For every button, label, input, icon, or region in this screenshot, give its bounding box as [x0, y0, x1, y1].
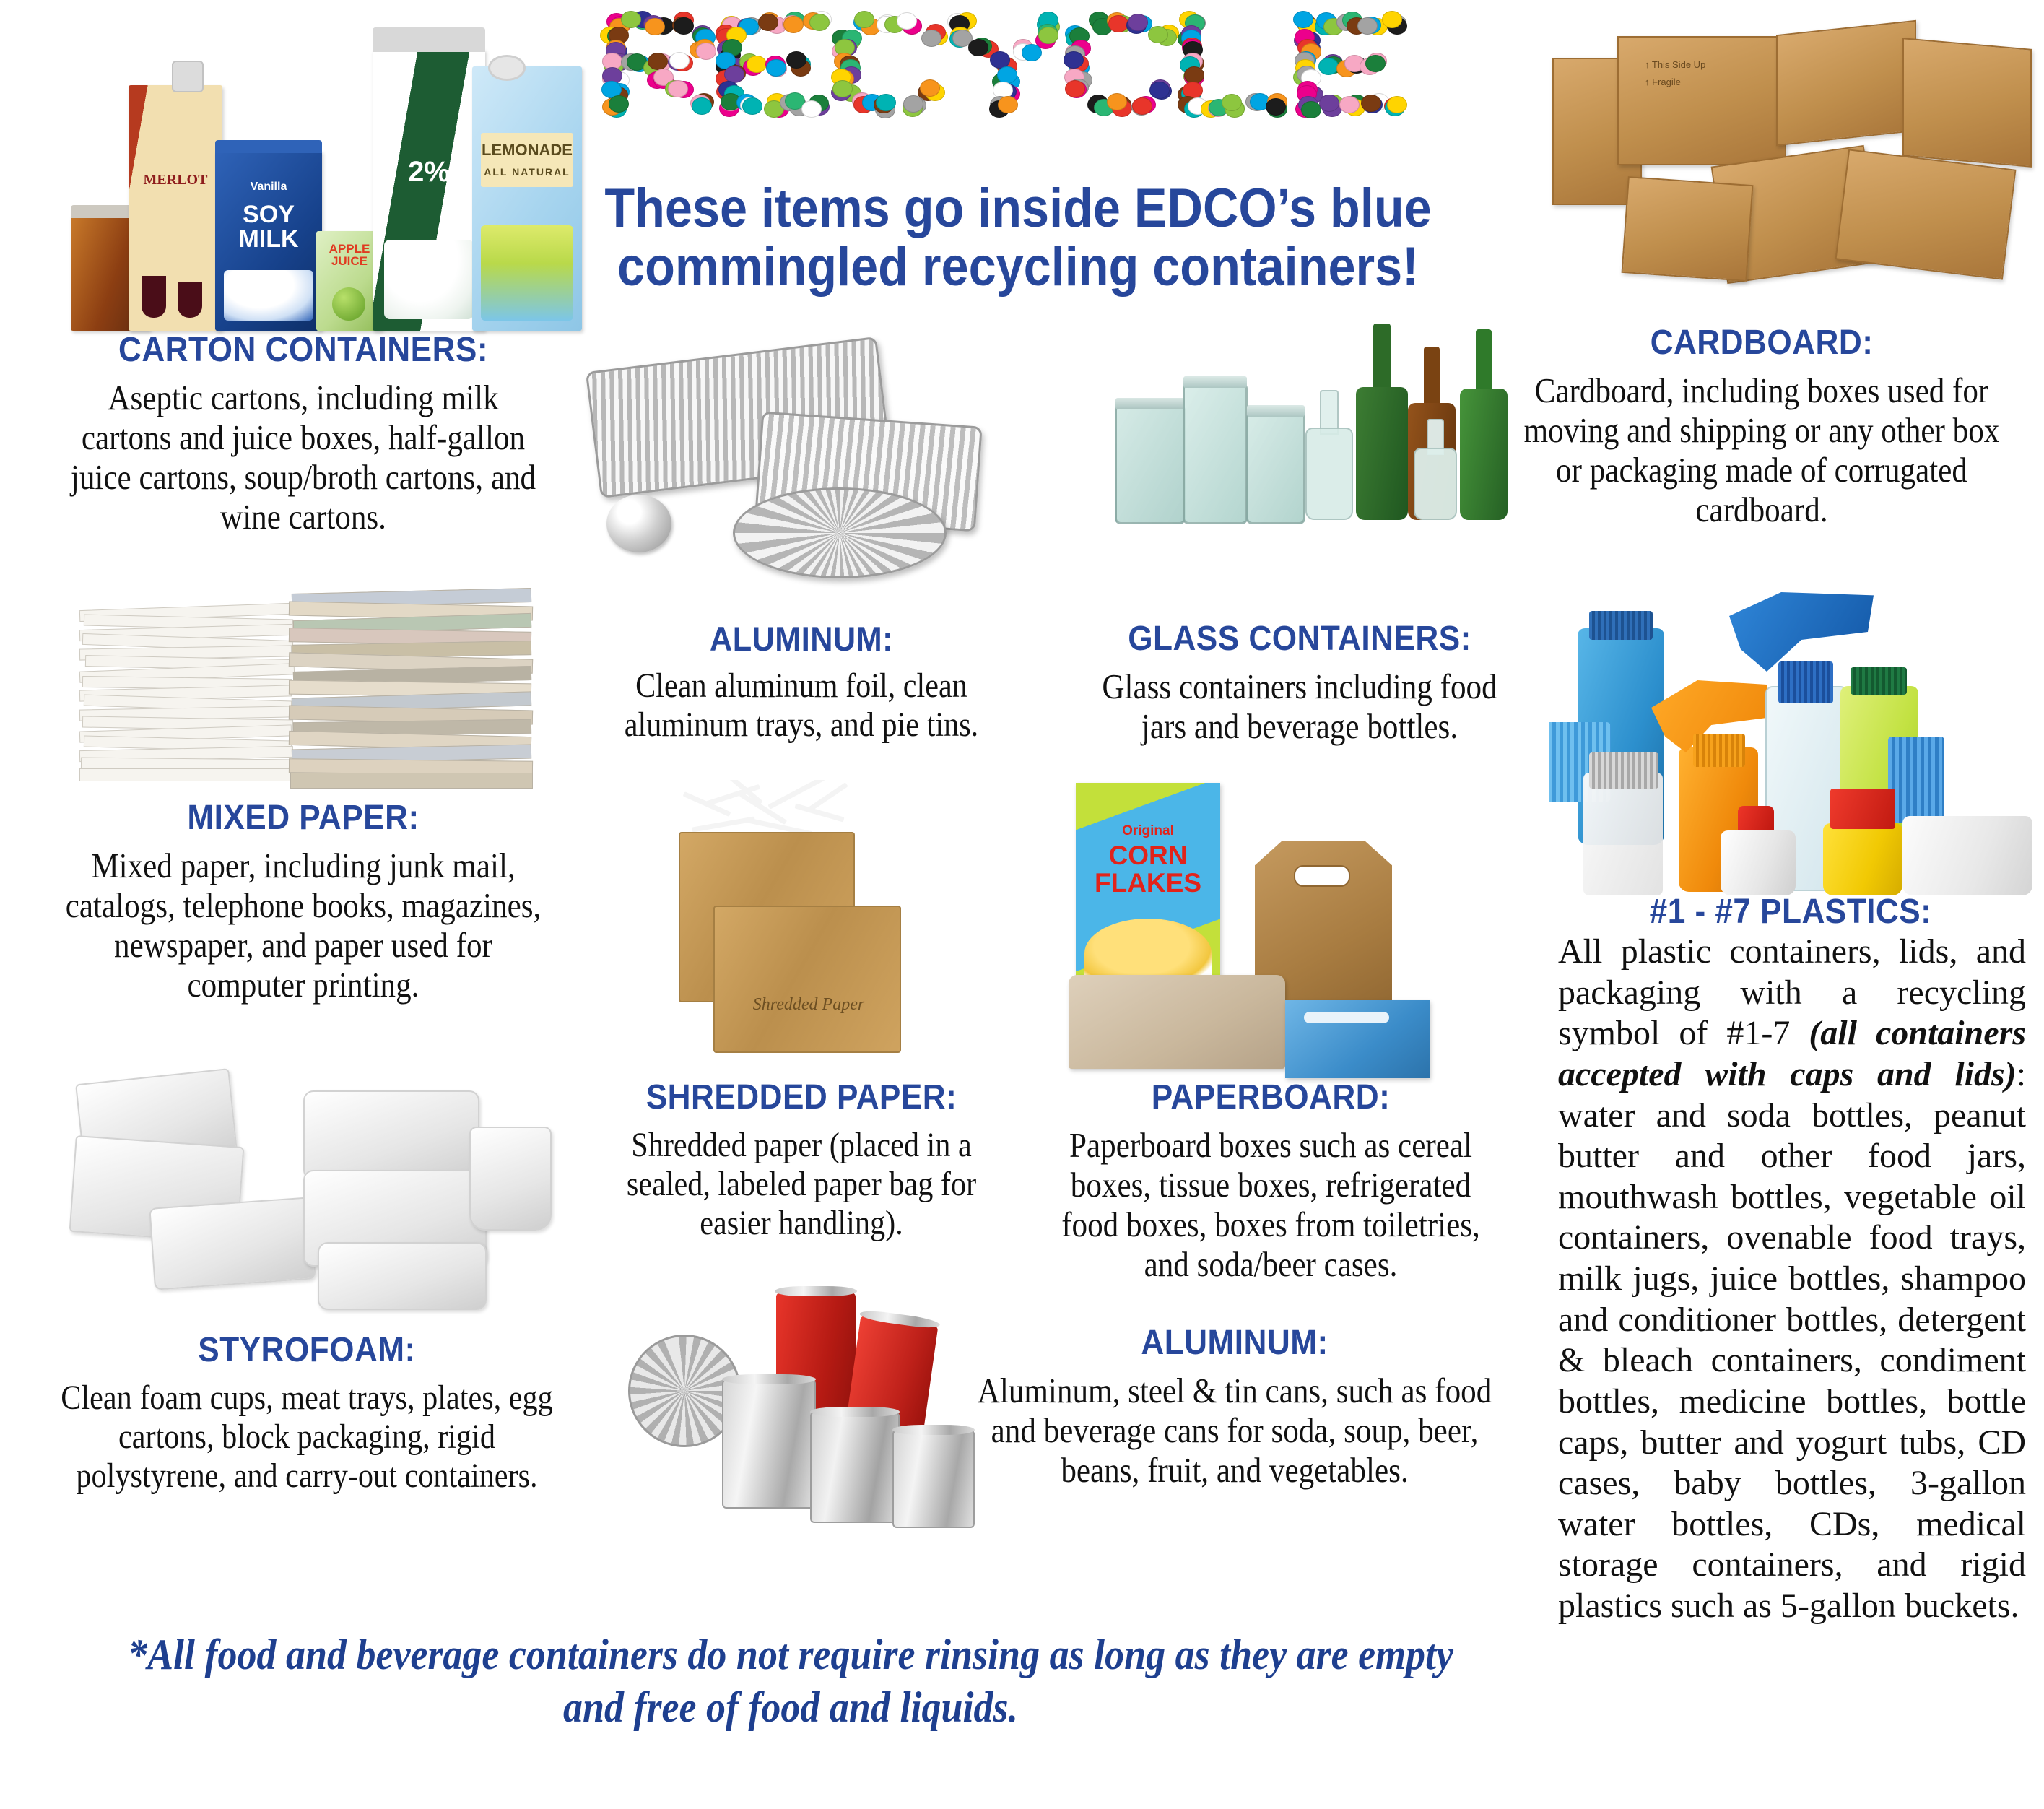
cereal-label-corn: CORN [1076, 841, 1220, 871]
paperboard-photo: Original CORN FLAKES [1054, 773, 1516, 1083]
carton-containers-photo: MERLOT Vanilla SOYMILK APPLEJUICE 2% LEM… [43, 14, 549, 332]
glass-bottle-clear-2 [1414, 419, 1457, 520]
glass-jar-1 [1115, 404, 1186, 524]
plastic-cap-red-1 [1830, 789, 1895, 829]
bottle-cap [645, 18, 665, 35]
glass-bottle-clear-1 [1305, 390, 1353, 520]
cardboard-box-2 [1617, 36, 1786, 165]
carton-merlot: MERLOT [129, 85, 222, 331]
glass-jar-lid-3 [1247, 405, 1305, 417]
bottle-cap [1038, 27, 1058, 44]
bottle-cap [783, 16, 804, 33]
cardboard-box-flat-2 [1835, 149, 2016, 279]
bottle-cap [1266, 98, 1286, 116]
glass-containers-photo [1105, 311, 1538, 614]
glass-containers-heading: GLASS CONTAINERS: [1080, 621, 1518, 657]
glass-bottle-green-wine [1356, 324, 1408, 520]
bottle-cap [920, 79, 940, 97]
section-aluminum-foil: ALUMINUM: Clean aluminum foil, clean alu… [578, 621, 1025, 745]
rinsing-footnote: *All food and beverage containers do not… [118, 1628, 1464, 1734]
cardboard-boxes-photo: ↑ This Side Up ↑ Fragile [1538, 14, 2043, 318]
cardboard-body: Cardboard, including boxes used for movi… [1521, 371, 2004, 530]
shredded-paper-body: Shredded paper (placed in a sealed, labe… [598, 1126, 1004, 1242]
bottle-cap [809, 14, 830, 31]
bottle-cap [1319, 95, 1339, 112]
glass-bottle-green-2 [1460, 329, 1508, 520]
bottle-cap [1365, 55, 1386, 72]
paperboard-heading: PAPERBOARD: [1032, 1080, 1510, 1116]
plastic-cap-blue-1 [1589, 611, 1653, 640]
bottle-cap [1301, 101, 1321, 118]
plastics-body-post: : water and soda bottles, peanut butter … [1558, 1055, 2026, 1625]
glass-jar-3 [1246, 412, 1305, 524]
bottle-cap [674, 17, 694, 35]
carton-2-percent-milk: 2% [373, 49, 485, 331]
plastic-cap-blue-3 [1778, 661, 1833, 703]
six-pack-handle [1294, 865, 1350, 887]
section-plastics-heading: #1 - #7 PLASTICS: [1523, 894, 2044, 930]
recycle-title-bottle-caps: RECYCLE [603, 13, 1462, 114]
fragile-label: ↑ Fragile [1645, 77, 1681, 87]
section-shredded-paper: SHREDDED PAPER: Shredded paper (placed i… [570, 1080, 1032, 1243]
mixed-paper-white-stack [79, 607, 296, 787]
section-cardboard: CARDBOARD: Cardboard, including boxes us… [1487, 325, 2036, 530]
bottle-cap [1387, 96, 1407, 113]
bottle-cap [724, 66, 744, 83]
cardboard-heading: CARDBOARD: [1509, 325, 2014, 361]
shredded-paper-sealed-bag [713, 906, 901, 1053]
plastic-cap-orange [1693, 734, 1745, 767]
mixed-paper-body: Mixed paper, including junk mail, catalo… [56, 846, 551, 1005]
styrofoam-body: Clean foam cups, meat trays, plates, egg… [56, 1379, 557, 1495]
tin-can-2 [810, 1412, 900, 1523]
bottle-cap [1293, 11, 1313, 28]
carton-soy-label: Vanilla [224, 181, 313, 194]
carton-containers-body: Aseptic cartons, including milk cartons … [62, 378, 545, 537]
shredded-paper-heading: SHREDDED PAPER: [589, 1080, 1014, 1116]
bottle-cap [1184, 66, 1204, 84]
aluminum-pie-tin [733, 487, 947, 578]
page-headline: These items go inside EDCO’s blue commin… [596, 179, 1440, 297]
aluminum-cans-heading: ALUMINUM: [949, 1325, 1520, 1361]
aluminum-foil-heading: ALUMINUM: [596, 621, 1007, 656]
mixed-paper-magazine-stack [289, 591, 534, 789]
plastic-milk-jug-white [1902, 816, 2032, 895]
tin-can-1 [722, 1379, 816, 1509]
shredded-paper-bag-label: Shredded Paper [744, 995, 874, 1015]
styrofoam-photo [65, 1062, 570, 1322]
bottle-cap [801, 100, 822, 118]
section-glass-containers: GLASS CONTAINERS: Glass containers inclu… [1061, 621, 1538, 747]
paperboard-body: Paperboard boxes such as cereal boxes, t… [1042, 1126, 1500, 1285]
carton-lemonade: LEMONADEALL NATURAL [472, 66, 582, 331]
section-styrofoam: STYROFOAM: Clean foam cups, meat trays, … [22, 1332, 592, 1496]
plastic-bottle-yellow [1823, 823, 1902, 895]
bottle-cap [1339, 96, 1360, 113]
carton-containers-heading: CARTON CONTAINERS: [51, 332, 555, 368]
plastic-cap-green [1851, 667, 1907, 695]
bottle-cap [1107, 93, 1127, 110]
plastic-trigger-blue [1729, 592, 1874, 672]
foam-clamshell-1 [303, 1090, 479, 1180]
carton-apple-label: APPLEJUICE [321, 243, 377, 267]
aluminum-cans-body: Aluminum, steel & tin cans, such as food… [962, 1371, 1508, 1491]
cardboard-box-flat-3 [1622, 176, 1754, 282]
bottle-cap [692, 97, 712, 115]
bottle-cap [1128, 14, 1148, 31]
tin-can-1-lid [722, 1374, 816, 1384]
cardboard-box-3 [1776, 20, 1916, 146]
shredded-paper-photo: Shredded Paper [643, 780, 1004, 1083]
carton-soy-milk: Vanilla SOYMILK [215, 150, 322, 331]
this-side-up-label: ↑ This Side Up [1645, 59, 1705, 70]
cardboard-box-4 [1902, 38, 2032, 168]
egg-carton [1069, 975, 1285, 1069]
soda-can-1-lid [775, 1286, 857, 1296]
cereal-label-flakes: FLAKES [1076, 868, 1220, 898]
bottle-cap [832, 80, 853, 97]
cereal-box: Original CORN FLAKES [1076, 783, 1220, 992]
bottle-cap [609, 95, 629, 113]
glass-jar-2 [1183, 383, 1248, 524]
aluminum-foil-ball [606, 495, 671, 552]
bottle-cap [897, 12, 917, 30]
bottle-cap [742, 97, 762, 115]
bottle-cap [669, 52, 690, 69]
glass-containers-body: Glass containers including food jars and… [1090, 667, 1510, 747]
recycle-letter-r [603, 13, 718, 114]
bottle-cap [696, 43, 716, 60]
bottle-cap [1318, 58, 1339, 75]
plastics-body: All plastic containers, lids, and packag… [1558, 932, 2026, 1627]
recycle-letter-c [1065, 13, 1180, 114]
recycle-letter-e [1296, 13, 1412, 114]
plastics-heading: #1 - #7 PLASTICS: [1545, 894, 2037, 930]
plastic-cap-silver [1589, 752, 1658, 789]
recycle-letter-l [1180, 13, 1296, 114]
bottle-cap [766, 59, 786, 77]
bottle-cap [747, 56, 767, 73]
section-mixed-paper: MIXED PAPER: Mixed paper, including junk… [22, 800, 585, 1005]
tin-can-2-lid [810, 1407, 900, 1417]
bottle-cap [1065, 80, 1085, 97]
tissue-box [1285, 1000, 1430, 1078]
bottle-cap [1064, 51, 1084, 69]
bottle-cap [758, 14, 778, 31]
recycle-letter-e [718, 13, 834, 114]
glass-jar-lid-2 [1183, 376, 1247, 388]
foam-tray-1 [149, 1197, 316, 1290]
cereal-label-original: Original [1076, 823, 1220, 839]
foam-clamshell-3 [318, 1242, 487, 1310]
carton-milk-label: 2% [381, 157, 476, 186]
glass-jar-lid-1 [1115, 398, 1185, 409]
carton-soy-title: SOYMILK [224, 202, 313, 251]
aluminum-foil-body: Clean aluminum foil, clean aluminum tray… [604, 667, 999, 745]
plastic-bottle-white-shampoo [1721, 830, 1796, 895]
recycle-letter-c [834, 13, 949, 114]
section-carton-containers: CARTON CONTAINERS: Aseptic cartons, incl… [29, 332, 578, 537]
aluminum-trays-photo [578, 332, 1025, 614]
bottle-cap [903, 95, 923, 113]
bottle-cap [668, 80, 688, 97]
recycle-letter-y [949, 13, 1065, 114]
bottle-cap [1148, 26, 1168, 43]
bottle-cap [998, 96, 1018, 113]
section-aluminum-cans: ALUMINUM: Aluminum, steel & tin cans, su… [924, 1325, 1545, 1491]
plastic-jar-with-metal-cap [1583, 773, 1663, 895]
bottle-cap [968, 39, 988, 56]
bottle-cap [1022, 44, 1042, 61]
plastic-bottles-photo [1549, 592, 2040, 895]
bottle-cap [921, 30, 941, 47]
mixed-paper-photo [72, 585, 549, 802]
section-paperboard: PAPERBOARD: Paperboard boxes such as cer… [1011, 1080, 1531, 1285]
bottle-cap [1149, 82, 1170, 99]
mixed-paper-heading: MIXED PAPER: [44, 800, 562, 836]
carton-lemonade-label: LEMONADEALL NATURAL [481, 133, 573, 187]
bottle-cap [1382, 11, 1402, 28]
styrofoam-heading: STYROFOAM: [45, 1332, 570, 1368]
foam-cup [469, 1127, 552, 1231]
plastic-cap-blue-4 [1888, 737, 1944, 823]
carton-merlot-label: MERLOT [136, 172, 214, 188]
